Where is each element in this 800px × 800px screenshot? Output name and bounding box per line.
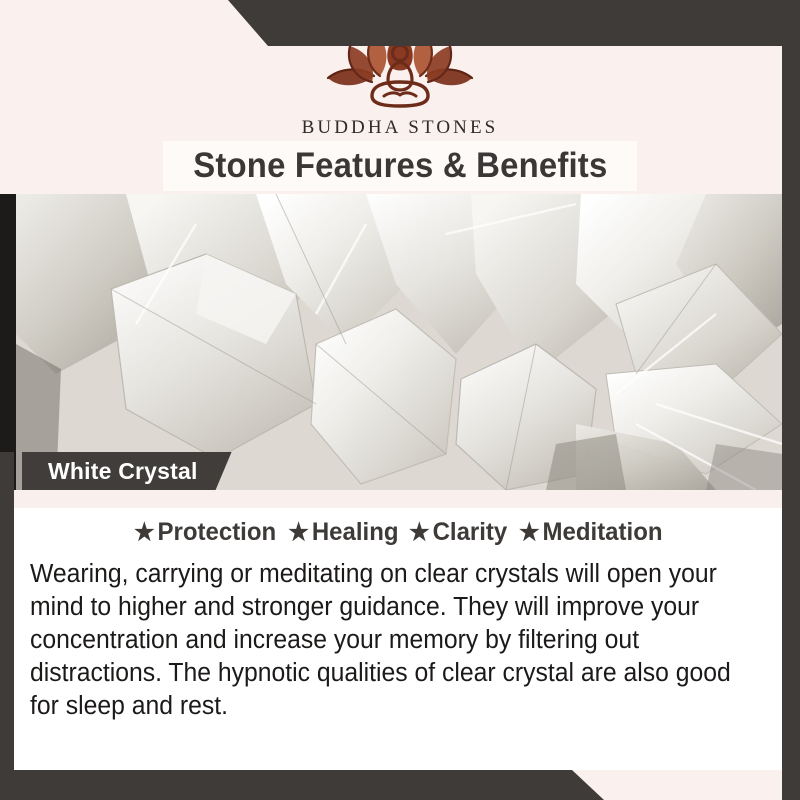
benefit-label: Healing <box>311 518 398 546</box>
star-icon: ★ <box>288 519 309 546</box>
stone-features-poster: BUDDHA STONES Stone Features & Benefits <box>0 0 800 800</box>
benefit-item-healing: ★Healing <box>288 518 398 547</box>
star-icon: ★ <box>134 519 155 546</box>
frame-left-edge <box>0 452 14 800</box>
frame-bottom-edge <box>0 770 800 800</box>
description-paragraph: Wearing, carrying or meditating on clear… <box>30 558 748 723</box>
benefits-row: ★Protection ★Healing ★Clarity ★Meditatio… <box>14 518 782 547</box>
page-title: Stone Features & Benefits <box>193 146 607 186</box>
photo-caption-label: White Crystal <box>48 458 198 485</box>
content-top-tint <box>14 490 782 508</box>
benefit-item-meditation: ★Meditation <box>519 518 663 547</box>
benefit-label: Clarity <box>432 518 507 546</box>
content-section: ★Protection ★Healing ★Clarity ★Meditatio… <box>14 490 782 770</box>
benefit-label: Protection <box>157 518 276 546</box>
white-crystal-cluster-photo <box>16 194 782 490</box>
benefit-item-protection: ★Protection <box>134 518 276 547</box>
benefit-label: Meditation <box>542 518 662 546</box>
brand-name: BUDDHA STONES <box>0 117 800 139</box>
benefit-item-clarity: ★Clarity <box>409 518 507 547</box>
frame-right-edge <box>782 0 800 800</box>
crystal-photo-band: White Crystal <box>0 194 800 490</box>
photo-caption-banner: White Crystal <box>22 452 232 490</box>
title-banner: Stone Features & Benefits <box>163 141 637 191</box>
star-icon: ★ <box>409 519 430 546</box>
star-icon: ★ <box>519 519 540 546</box>
